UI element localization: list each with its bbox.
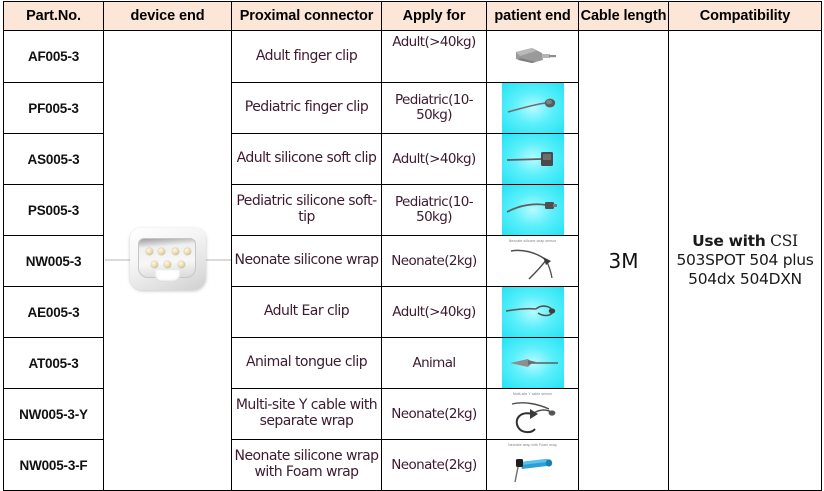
cell-proximal-connector: Adult Ear clip — [232, 287, 382, 338]
column-header-part-no[interactable]: Part.No. — [4, 2, 104, 31]
adult-silicone-soft-clip-graphic — [502, 134, 564, 184]
cell-proximal-connector: Pediatric finger clip — [232, 83, 382, 134]
cell-part-no: PF005-3 — [4, 83, 104, 134]
pediatric-finger-clip-graphic — [502, 83, 564, 133]
cell-apply-for: Adult(>40kg) — [382, 134, 487, 185]
column-header-proximal-connector[interactable]: Proximal connector — [232, 2, 382, 31]
cell-proximal-connector: Adult finger clip — [232, 31, 382, 83]
product-spec-table: Part.No. device end Proximal connector A… — [3, 1, 822, 491]
pediatric-silicone-soft-tip-icon — [502, 185, 564, 235]
adult-ear-clip-icon — [502, 287, 564, 337]
neonate-silicone-wrap-icon: Neonate silicone wrap sensor — [502, 236, 564, 286]
cell-proximal-connector: Pediatric silicone soft-tip — [232, 185, 382, 236]
cell-apply-for: Animal — [382, 338, 487, 389]
connector-notch — [155, 270, 180, 282]
cell-apply-for: Neonate(2kg) — [382, 440, 487, 491]
db9-style-white-connector-icon — [105, 218, 231, 304]
cell-proximal-connector: Neonate silicone wrap with Foam wrap — [232, 440, 382, 491]
cell-patient-end-image: Neonate wrap with Foam wrap — [487, 440, 579, 491]
cell-device-end-image — [104, 31, 232, 491]
cell-patient-end-image: Multi-site Y cable sensor — [487, 389, 579, 440]
table-row: AF005-3 — [4, 31, 822, 83]
cell-patient-end-image — [487, 31, 579, 83]
column-header-compatibility[interactable]: Compatibility — [669, 2, 822, 31]
pediatric-silicone-soft-tip-graphic — [502, 185, 564, 235]
cell-patient-end-image — [487, 83, 579, 134]
cell-cable-length: 3M — [579, 31, 669, 491]
cell-patient-end-image — [487, 134, 579, 185]
cell-part-no: AT005-3 — [4, 338, 104, 389]
cell-compatibility: Use with CSI 503SPOT 504 plus 504dx 504D… — [669, 31, 822, 491]
column-header-cable-length[interactable]: Cable length — [579, 2, 669, 31]
header-row: Part.No. device end Proximal connector A… — [4, 2, 822, 31]
cell-proximal-connector: Adult silicone soft clip — [232, 134, 382, 185]
column-header-device-end[interactable]: device end — [104, 2, 232, 31]
cell-apply-for: Neonate(2kg) — [382, 389, 487, 440]
column-header-patient-end[interactable]: patient end — [487, 2, 579, 31]
adult-finger-clip-icon — [502, 32, 564, 82]
spec-sheet: Part.No. device end Proximal connector A… — [0, 1, 824, 491]
table-header: Part.No. device end Proximal connector A… — [4, 2, 822, 31]
pediatric-finger-clip-icon — [502, 83, 564, 133]
connector-pin — [184, 248, 191, 255]
neonate-foam-wrap-icon: Neonate wrap with Foam wrap — [502, 440, 564, 490]
cell-part-no: NW005-3-Y — [4, 389, 104, 440]
cell-apply-for: Pediatric(10-50kg) — [382, 185, 487, 236]
adult-finger-clip-graphic — [502, 32, 564, 82]
adult-silicone-soft-clip-icon — [502, 134, 564, 184]
connector-pin — [158, 248, 165, 255]
cell-proximal-connector: Neonate silicone wrap — [232, 236, 382, 287]
column-header-apply-for[interactable]: Apply for — [382, 2, 487, 31]
compat-line-2: 503SPOT 504 plus — [669, 251, 821, 270]
cell-proximal-connector: Multi-site Y cable with separate wrap — [232, 389, 382, 440]
connector-pin — [146, 248, 153, 255]
connector-pin — [164, 261, 171, 268]
cell-part-no: NW005-3-F — [4, 440, 104, 491]
adult-ear-clip-graphic — [502, 287, 564, 337]
cell-apply-for: Adult(>40kg) — [382, 31, 487, 83]
cell-patient-end-image — [487, 338, 579, 389]
table-body: AF005-3 — [4, 31, 822, 491]
cell-part-no: PS005-3 — [4, 185, 104, 236]
multi-site-y-cable-graphic — [502, 389, 564, 439]
cell-patient-end-image: Neonate silicone wrap sensor — [487, 236, 579, 287]
cable-stub-right — [205, 259, 231, 261]
cell-proximal-connector: Animal tongue clip — [232, 338, 382, 389]
cell-part-no: AS005-3 — [4, 134, 104, 185]
cell-apply-for: Adult(>40kg) — [382, 287, 487, 338]
cell-apply-for: Neonate(2kg) — [382, 236, 487, 287]
animal-tongue-clip-graphic — [502, 338, 564, 388]
connector-pin — [151, 261, 158, 268]
cell-patient-end-image — [487, 287, 579, 338]
cell-apply-for: Pediatric(10-50kg) — [382, 83, 487, 134]
connector-pin — [178, 261, 185, 268]
cell-patient-end-image — [487, 185, 579, 236]
cell-part-no: NW005-3 — [4, 236, 104, 287]
neonate-silicone-wrap-graphic — [502, 236, 564, 286]
compat-line-3: 504dx 504DXN — [669, 270, 821, 289]
compat-line-1: Use with CSI — [669, 232, 821, 251]
cell-part-no: AF005-3 — [4, 31, 104, 83]
compat-use-with-label: Use with — [692, 232, 765, 250]
cable-stub-left — [105, 259, 131, 261]
multi-site-y-cable-icon: Multi-site Y cable sensor — [502, 389, 564, 439]
connector-pin — [172, 248, 179, 255]
cell-part-no: AE005-3 — [4, 287, 104, 338]
compat-brand-label: CSI — [770, 232, 798, 250]
neonate-foam-wrap-graphic — [502, 440, 564, 490]
animal-tongue-clip-icon — [502, 338, 564, 388]
